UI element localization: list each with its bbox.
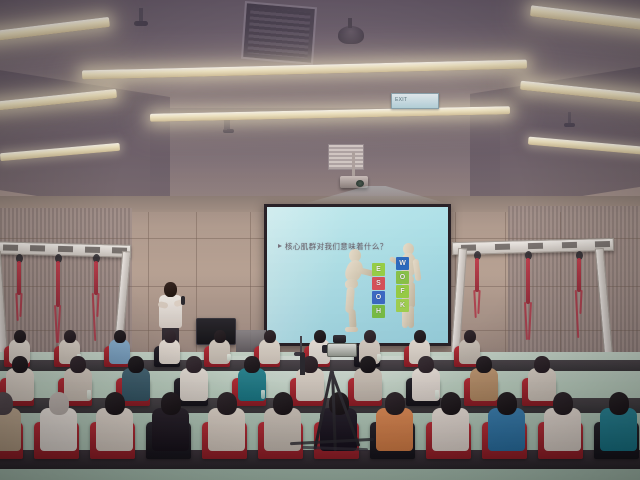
- suspension-strap-tail: [477, 290, 480, 314]
- ceiling-sign: EXIT: [391, 93, 439, 109]
- audience-member-head: [414, 330, 426, 343]
- suspension-strap: [577, 258, 581, 292]
- tripod-leg: [313, 371, 333, 450]
- audience-member-head: [385, 392, 406, 415]
- audience-member-head: [553, 392, 574, 415]
- audience-member: [94, 392, 137, 452]
- projector-mount-pole: [352, 152, 355, 178]
- projection-screen-frame: 核心肌群对我们意味着什么？: [264, 204, 451, 346]
- suspension-strap-tail: [473, 290, 476, 318]
- slide-letter-block: O: [372, 291, 385, 304]
- rack-beam-slot: [30, 245, 45, 251]
- ceiling-coffer-left: [0, 67, 170, 217]
- audience-member-head: [534, 356, 550, 373]
- sprinkler-head-icon: [224, 119, 227, 130]
- sprinkler-head-icon: [227, 119, 230, 130]
- air-diffuser-vent: [328, 144, 364, 170]
- suspension-strap: [526, 258, 530, 304]
- slide-letter-block: F: [396, 285, 409, 298]
- audience-member-head: [364, 330, 376, 343]
- sprinkler-head-icon: [568, 112, 571, 124]
- rack-beam-slot: [595, 241, 610, 247]
- audience-member-head: [128, 356, 144, 373]
- suspension-strap-tail: [19, 293, 22, 317]
- ceiling-speaker-icon: [338, 26, 364, 44]
- tripod-center-column: [300, 353, 305, 375]
- audience-member: [206, 392, 249, 452]
- rack-beam-slot: [494, 244, 509, 250]
- ceiling-sign-label: EXIT: [395, 97, 407, 103]
- audience-member: [542, 392, 585, 452]
- projector-lens-icon: [356, 180, 364, 187]
- audience-member-head: [214, 330, 226, 343]
- audience-member-head: [476, 356, 492, 373]
- suspension-strap-tail: [579, 290, 582, 314]
- hvac-vent-panel: [241, 1, 317, 65]
- audience-member-head: [161, 392, 182, 415]
- rack-beam-slot: [3, 244, 18, 250]
- audience-member-head: [70, 356, 86, 373]
- audience-member-head: [49, 392, 70, 415]
- screen-glare: [267, 207, 408, 343]
- audience-member-head: [14, 330, 26, 343]
- slide-letter-block: O: [396, 271, 409, 284]
- audience-member-head: [464, 330, 476, 343]
- water-bottle: [227, 354, 231, 361]
- slide-block-stack-left: ESOH: [372, 263, 385, 318]
- video-camera: [327, 343, 357, 357]
- audience-member: [0, 392, 25, 452]
- rack-beam-slot: [528, 243, 543, 249]
- audience-member: [38, 392, 81, 452]
- audience-member: [486, 392, 529, 452]
- handheld-microphone-icon: [181, 296, 185, 305]
- audience-member-head: [497, 392, 518, 415]
- audience-member-head: [217, 392, 238, 415]
- projection-screen: 核心肌群对我们意味着什么？: [267, 207, 448, 343]
- slide-block-stack-right: WOFK: [396, 257, 409, 312]
- seminar-hall-photo: EXIT 核心肌群对我们意味着什么？: [0, 0, 640, 480]
- audience-member-head: [609, 392, 630, 415]
- slide-bullet-icon: [278, 244, 282, 248]
- ceiling: EXIT: [0, 0, 640, 205]
- audience-member-head: [264, 330, 276, 343]
- audience-member-head: [441, 392, 462, 415]
- suspension-strap-tail: [96, 293, 99, 317]
- suspension-strap: [17, 261, 21, 295]
- audience-member-head: [273, 392, 294, 415]
- slide-letter-block: S: [372, 277, 385, 290]
- suspension-strap: [94, 261, 98, 295]
- ceiling-coffer-center: [150, 108, 500, 203]
- audience-member: [150, 392, 193, 452]
- camera-tripod: [300, 353, 362, 449]
- audience-member-head: [64, 330, 76, 343]
- audience-member-head: [114, 330, 126, 343]
- ceiling-light-strip: [530, 5, 640, 34]
- rack-beam-slot: [57, 246, 72, 252]
- ceiling-light-strip: [0, 17, 110, 45]
- audience-member-head: [314, 330, 326, 343]
- slide-letter-block: H: [372, 305, 385, 318]
- rack-beam-slot: [85, 247, 100, 253]
- suspension-strap-tail: [15, 293, 18, 321]
- slide-letter-block: K: [396, 299, 409, 312]
- suspension-strap: [56, 261, 60, 307]
- audience-member-head: [164, 330, 176, 343]
- rack-beam-slot: [561, 242, 576, 248]
- audience-member-head: [186, 356, 202, 373]
- suspension-strap: [475, 258, 479, 292]
- slide-letter-block: W: [396, 257, 409, 270]
- sprinkler-head-icon: [139, 8, 143, 22]
- audience-member-head: [105, 392, 126, 415]
- slide-letter-block: E: [372, 263, 385, 276]
- camera-viewfinder: [333, 335, 346, 343]
- presenter-head: [164, 282, 177, 297]
- audience-member: [430, 392, 473, 452]
- audience-member: [374, 392, 417, 452]
- water-bottle: [87, 390, 91, 399]
- audience-member-head: [360, 356, 376, 373]
- audience-member: [598, 392, 640, 452]
- audience-member-head: [12, 356, 28, 373]
- audience-member-head: [244, 356, 260, 373]
- audience-member-head: [418, 356, 434, 373]
